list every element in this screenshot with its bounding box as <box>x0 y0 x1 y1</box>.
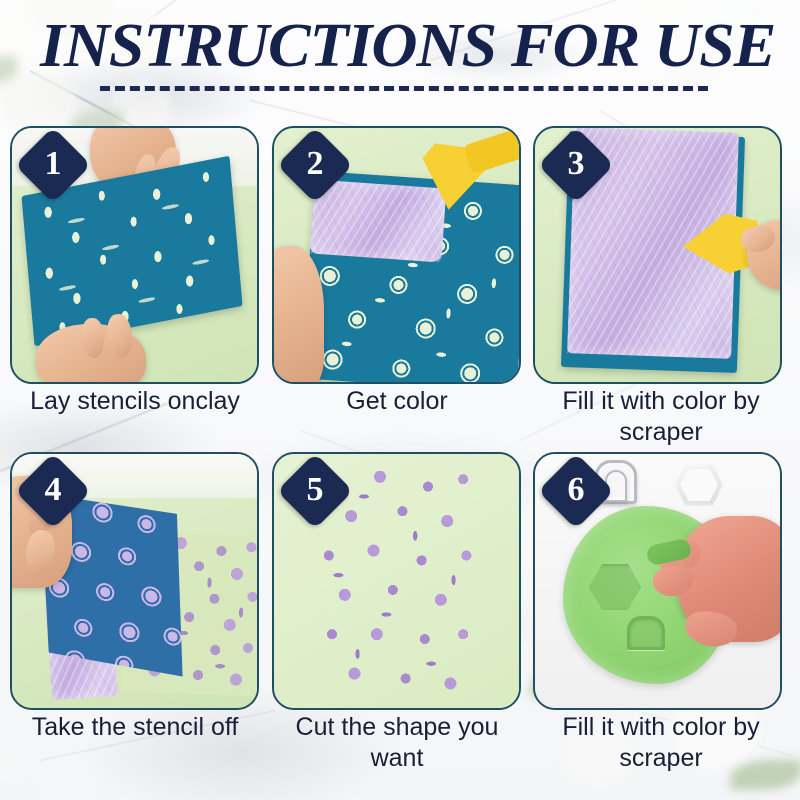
step-caption-2: Get color <box>266 386 528 450</box>
step-number-3: 3 <box>549 138 603 192</box>
step-panel-2[interactable]: 2 <box>272 126 521 384</box>
step-panel-5[interactable]: 5 <box>272 452 521 710</box>
step-badge-6: 6 <box>538 453 614 529</box>
step-panel-4[interactable]: 4 <box>10 452 259 710</box>
yellow-scraper-handle <box>463 126 521 174</box>
step-caption-3: Fill it with color by scraper <box>528 386 794 450</box>
step-badge-2: 2 <box>277 127 353 203</box>
infographic-page: INSTRUCTIONS FOR USE 1 <box>0 0 800 800</box>
step-caption-4: Take the stencil off <box>4 712 266 776</box>
step-panel-1[interactable]: 1 <box>10 126 259 384</box>
step-caption-6: Fill it with color by scraper <box>528 712 794 776</box>
step-caption-1: Lay stencils onclay <box>4 386 266 450</box>
step-number-1: 1 <box>26 138 80 192</box>
step-caption-5: Cut the shape you want <box>266 712 528 776</box>
step-panel-3[interactable]: 3 <box>533 126 782 384</box>
horseshoe-impression <box>627 616 665 650</box>
step-panel-6[interactable]: 6 <box>533 452 782 710</box>
hand-thumb <box>272 246 324 384</box>
step-number-4: 4 <box>26 464 80 518</box>
page-title: INSTRUCTIONS FOR USE <box>40 14 792 78</box>
step-number-5: 5 <box>288 464 342 518</box>
step-badge-1: 1 <box>15 127 91 203</box>
step-number-6: 6 <box>549 464 603 518</box>
step-badge-3: 3 <box>538 127 614 203</box>
title-dashed-divider <box>100 86 708 91</box>
step-badge-5: 5 <box>277 453 353 529</box>
metal-cutter-hexagon <box>675 464 723 506</box>
step-number-2: 2 <box>288 138 342 192</box>
step-badge-4: 4 <box>15 453 91 529</box>
header: INSTRUCTIONS FOR USE <box>0 0 800 110</box>
